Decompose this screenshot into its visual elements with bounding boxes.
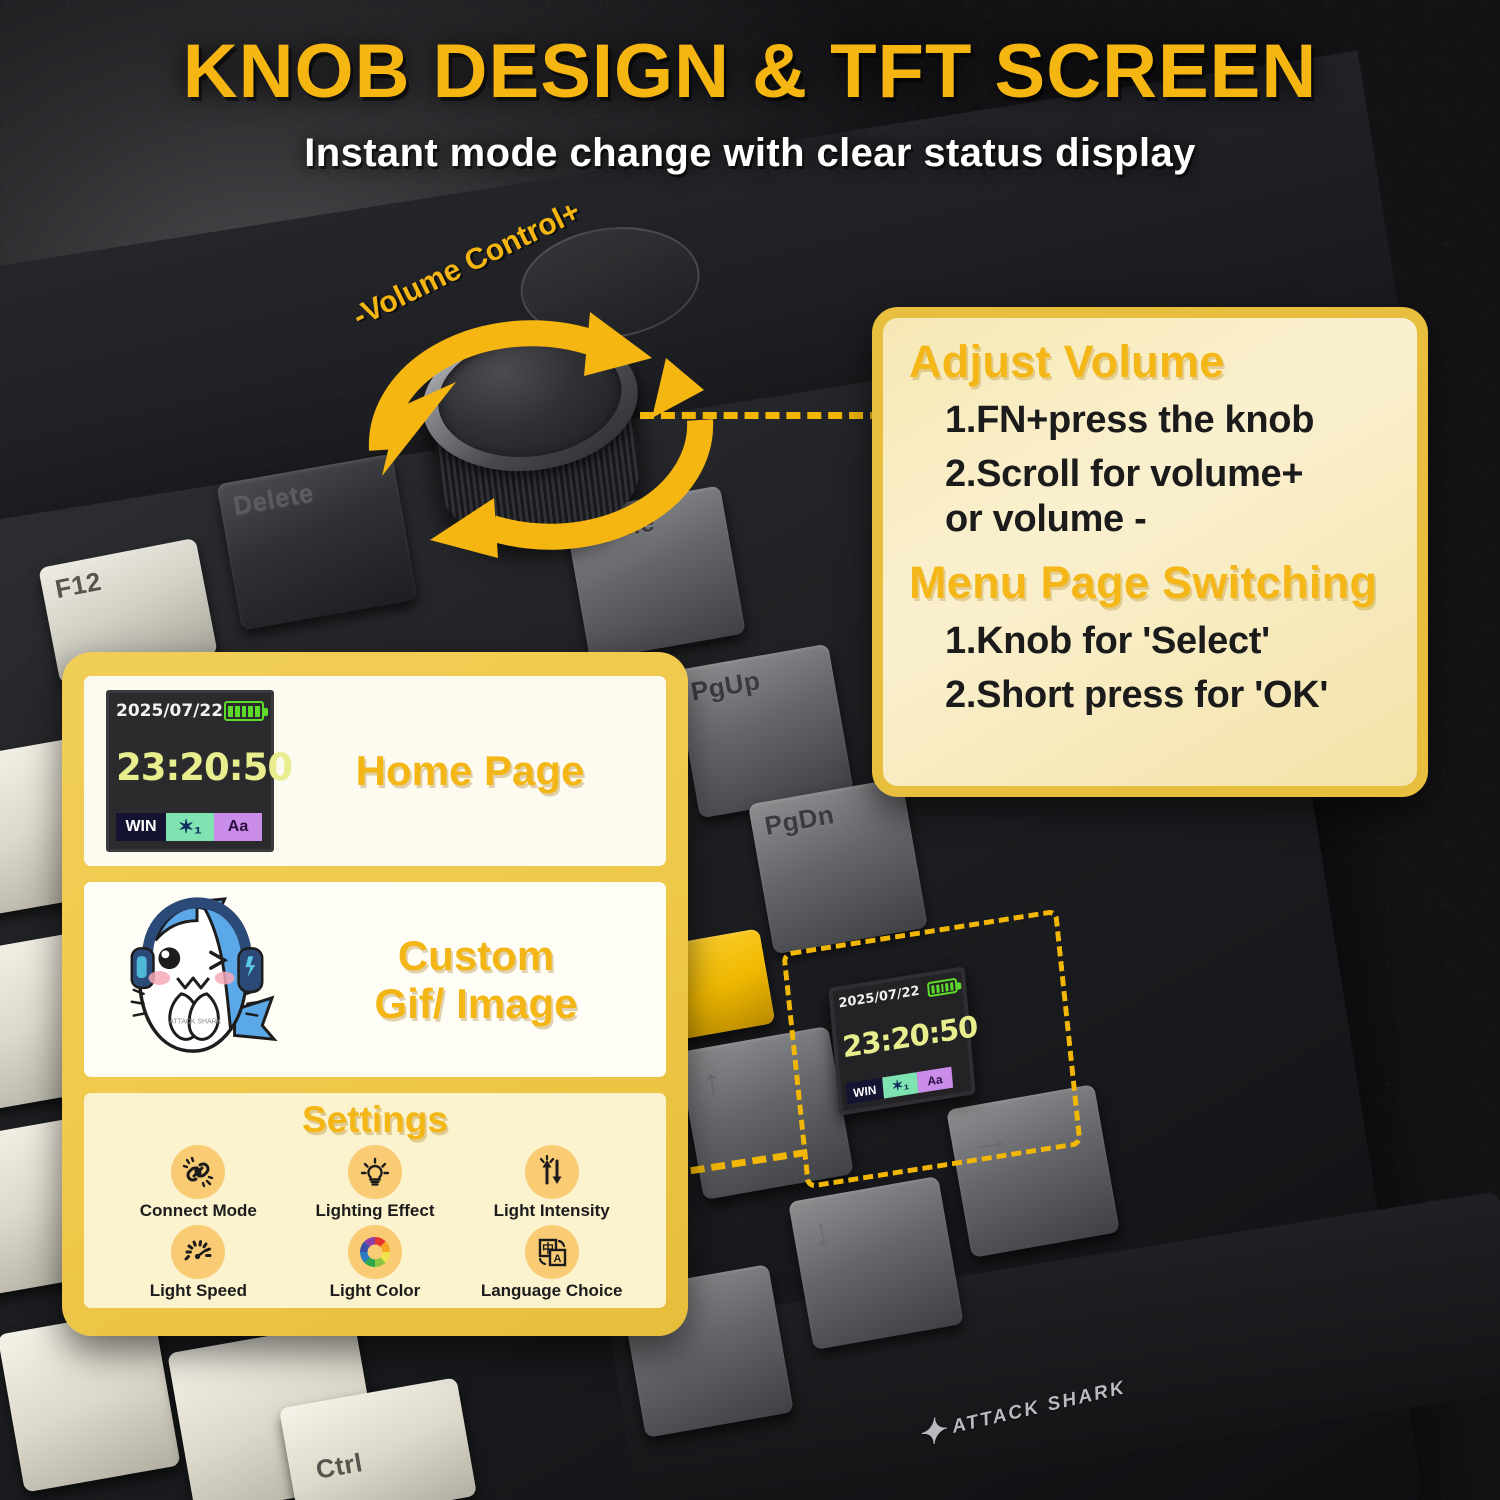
lightbulb-icon <box>348 1145 402 1199</box>
battery-icon <box>224 701 264 721</box>
setting-label: Lighting Effect <box>316 1201 435 1221</box>
link-icon <box>171 1145 225 1199</box>
tft-badge-row: WIN ✶₁ Aa <box>116 813 264 841</box>
instruction-line: 1.Knob for 'Select' <box>945 620 1391 663</box>
badge-os: WIN <box>116 813 166 841</box>
gauge-icon <box>171 1225 225 1279</box>
volume-control-annotation: -Volume Control+ <box>355 272 655 362</box>
bluetooth-icon: ✶₁ <box>166 813 214 841</box>
page-title: KNOB DESIGN & TFT SCREEN <box>0 28 1500 115</box>
tft-preview-home-page: 2025/07/22 23:20:50 WIN ✶₁ Aa <box>106 690 274 852</box>
settings-grid: Connect Mode Lighting Effect <box>84 1145 666 1301</box>
key-arrow-down[interactable]: ↓ <box>788 1176 964 1350</box>
intensity-arrows-icon <box>525 1145 579 1199</box>
tft-date: 2025/07/22 <box>116 701 223 721</box>
feature-label-custom-gif: Custom Gif/ Image <box>286 932 666 1026</box>
setting-label: Connect Mode <box>140 1201 257 1221</box>
instructions-panel: Adjust Volume 1.FN+press the knob 2.Scro… <box>872 307 1428 797</box>
badge-language: Aa <box>917 1067 953 1093</box>
instruction-line: or volume - <box>945 498 1391 541</box>
tft-time: 23:20:50 <box>116 746 264 789</box>
setting-connect-mode[interactable]: Connect Mode <box>110 1145 287 1221</box>
key-pgdn[interactable]: PgDn <box>748 778 928 955</box>
shark-mascot-icon: ATTACK SHARK <box>108 895 286 1065</box>
section-heading-adjust-volume: Adjust Volume <box>909 336 1391 388</box>
setting-label: Light Intensity <box>494 1201 610 1221</box>
setting-light-color[interactable]: Light Color <box>287 1225 464 1301</box>
tft-inset-status-bar: 2025/07/22 <box>838 978 958 1012</box>
page-subtitle: Instant mode change with clear status di… <box>0 131 1500 176</box>
setting-light-intensity[interactable]: Light Intensity <box>463 1145 640 1221</box>
instruction-line: 1.FN+press the knob <box>945 399 1391 442</box>
tft-status-bar: 2025/07/22 <box>116 701 264 721</box>
badge-language: Aa <box>214 813 262 841</box>
setting-label: Light Color <box>330 1281 421 1301</box>
setting-light-speed[interactable]: Light Speed <box>110 1225 287 1301</box>
tft-inset-badge-row: WIN ✶₁ Aa <box>846 1065 966 1105</box>
setting-label: Light Speed <box>150 1281 247 1301</box>
tft-inset-time: 23:20:50 <box>841 1012 962 1065</box>
setting-language-choice[interactable]: 中 A Language Choice <box>463 1225 640 1301</box>
translate-icon: 中 A <box>525 1225 579 1279</box>
header-block: KNOB DESIGN & TFT SCREEN Instant mode ch… <box>0 28 1500 176</box>
section-heading-menu-page-switching: Menu Page Switching <box>909 557 1391 609</box>
features-panel: 2025/07/22 23:20:50 WIN ✶₁ Aa Home Page <box>62 652 688 1336</box>
feature-row-custom-gif: ATTACK SHARK Custom Gif/ Image <box>84 882 666 1077</box>
tft-inset-date: 2025/07/22 <box>838 984 920 1012</box>
setting-label: Language Choice <box>481 1281 623 1301</box>
feature-row-settings: Settings Connect Mode <box>84 1093 666 1308</box>
svg-text:A: A <box>553 1253 561 1265</box>
battery-icon <box>927 978 958 998</box>
setting-lighting-effect[interactable]: Lighting Effect <box>287 1145 464 1221</box>
settings-title: Settings <box>302 1099 448 1141</box>
instruction-line: 2.Scroll for volume+ <box>945 453 1391 496</box>
svg-text:ATTACK SHARK: ATTACK SHARK <box>169 1018 221 1025</box>
keyboard-tft-screen[interactable]: 2025/07/22 23:20:50 WIN ✶₁ Aa <box>828 966 975 1115</box>
badge-os: WIN <box>846 1078 884 1105</box>
feature-row-home-page: 2025/07/22 23:20:50 WIN ✶₁ Aa Home Page <box>84 676 666 866</box>
feature-label-home-page: Home Page <box>274 747 666 794</box>
color-wheel-icon <box>348 1225 402 1279</box>
bluetooth-icon: ✶₁ <box>882 1072 918 1098</box>
instruction-line: 2.Short press for 'OK' <box>945 674 1391 717</box>
